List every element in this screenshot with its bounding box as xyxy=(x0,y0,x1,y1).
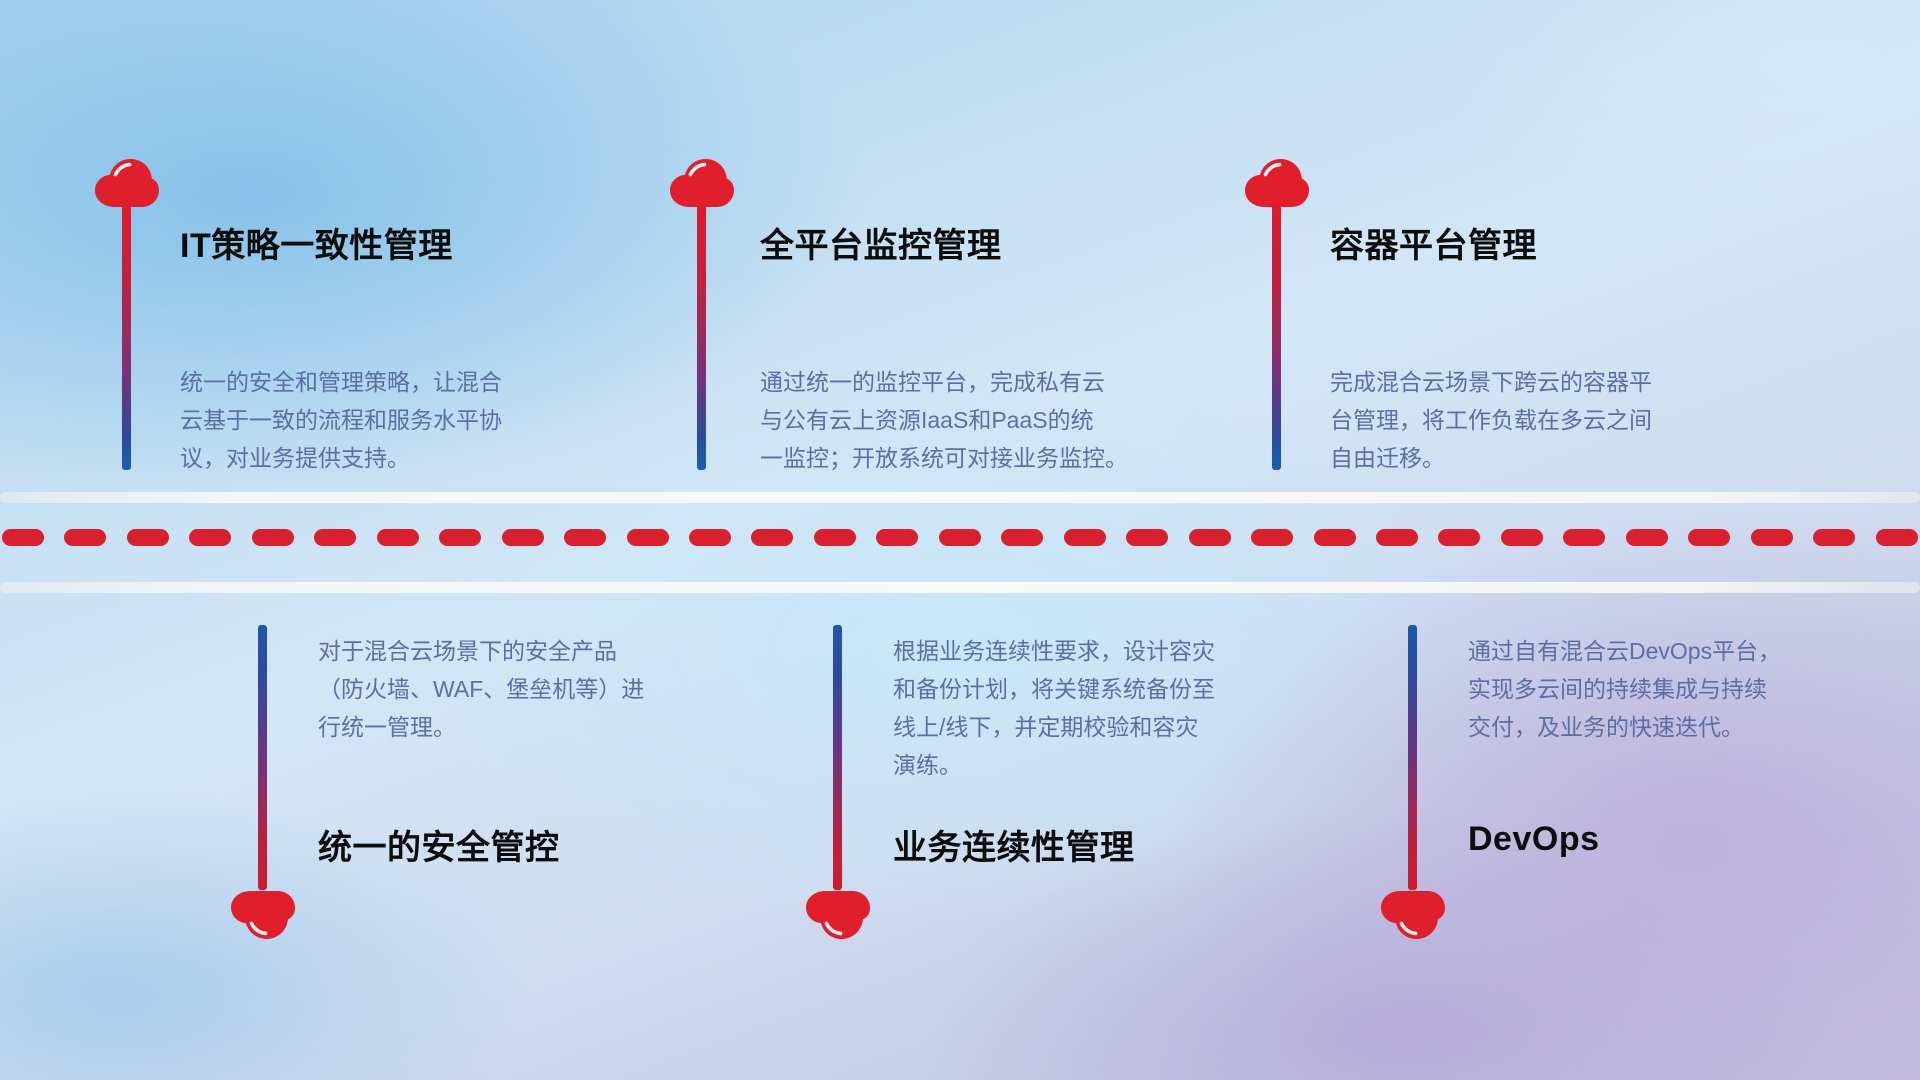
divider-dash xyxy=(2,529,44,546)
divider-dash xyxy=(1251,529,1293,546)
description-line: 交付，及业务的快速迭代。 xyxy=(1468,708,1781,746)
divider-dash xyxy=(1688,529,1730,546)
cloud-icon xyxy=(805,890,871,940)
divider-dash xyxy=(1189,529,1231,546)
pin-line xyxy=(1408,625,1417,890)
divider-dash xyxy=(627,529,669,546)
cloud-icon xyxy=(94,158,160,208)
marker-title: 统一的安全管控 xyxy=(318,820,560,869)
pin-line xyxy=(258,625,267,890)
marker-title: IT策略一致性管理 xyxy=(180,218,453,267)
description-line: 和备份计划，将关键系统备份至 xyxy=(893,670,1215,708)
description-line: （防火墙、WAF、堡垒机等）进 xyxy=(318,670,644,708)
marker-description: 通过统一的监控平台，完成私有云与公有云上资源IaaS和PaaS的统一监控；开放系… xyxy=(760,363,1128,477)
pin-line xyxy=(697,205,706,470)
divider-dash xyxy=(1064,529,1106,546)
description-line: 实现多云间的持续集成与持续 xyxy=(1468,670,1781,708)
divider-dash xyxy=(939,529,981,546)
pin-line xyxy=(833,625,842,890)
marker-title: 业务连续性管理 xyxy=(893,820,1135,869)
marker-title: DevOps xyxy=(1468,820,1600,859)
divider-dash xyxy=(502,529,544,546)
description-line: 行统一管理。 xyxy=(318,708,644,746)
description-line: 统一的安全和管理策略，让混合 xyxy=(180,363,502,401)
cloud-icon xyxy=(1380,890,1446,940)
description-line: 一监控；开放系统可对接业务监控。 xyxy=(760,439,1128,477)
divider-dash xyxy=(377,529,419,546)
divider-dash xyxy=(1563,529,1605,546)
description-line: 演练。 xyxy=(893,746,1215,784)
divider-dash xyxy=(1813,529,1855,546)
description-line: 台管理，将工作负载在多云之间 xyxy=(1330,401,1652,439)
divider-dash xyxy=(876,529,918,546)
divider xyxy=(0,482,1920,602)
marker-title: 容器平台管理 xyxy=(1330,218,1537,267)
marker-title: 全平台监控管理 xyxy=(760,218,1002,267)
divider-dash xyxy=(314,529,356,546)
description-line: 通过自有混合云DevOps平台， xyxy=(1468,632,1781,670)
cloud-icon xyxy=(1244,158,1310,208)
divider-dash xyxy=(1001,529,1043,546)
divider-dash xyxy=(814,529,856,546)
dashed-divider-line xyxy=(0,526,1920,548)
cloud-icon xyxy=(230,890,296,940)
description-line: 与公有云上资源IaaS和PaaS的统 xyxy=(760,401,1128,439)
marker-description: 对于混合云场景下的安全产品（防火墙、WAF、堡垒机等）进行统一管理。 xyxy=(318,632,644,746)
marker-description: 完成混合云场景下跨云的容器平台管理，将工作负载在多云之间自由迁移。 xyxy=(1330,363,1652,477)
divider-dash xyxy=(64,529,106,546)
divider-dash xyxy=(1501,529,1543,546)
divider-dash xyxy=(1126,529,1168,546)
description-line: 根据业务连续性要求，设计容灾 xyxy=(893,632,1215,670)
divider-dash xyxy=(1438,529,1480,546)
cloud-icon xyxy=(669,158,735,208)
description-line: 线上/线下，并定期校验和容灾 xyxy=(893,708,1215,746)
divider-dash xyxy=(439,529,481,546)
divider-dash xyxy=(1314,529,1356,546)
marker-description: 根据业务连续性要求，设计容灾和备份计划，将关键系统备份至线上/线下，并定期校验和… xyxy=(893,632,1215,784)
description-line: 云基于一致的流程和服务水平协 xyxy=(180,401,502,439)
divider-dash xyxy=(751,529,793,546)
divider-dash xyxy=(189,529,231,546)
divider-dash xyxy=(1626,529,1668,546)
pin-line xyxy=(1272,205,1281,470)
pin-line xyxy=(122,205,131,470)
description-line: 议，对业务提供支持。 xyxy=(180,439,502,477)
divider-dash xyxy=(252,529,294,546)
description-line: 自由迁移。 xyxy=(1330,439,1652,477)
marker-description: 通过自有混合云DevOps平台，实现多云间的持续集成与持续交付，及业务的快速迭代… xyxy=(1468,632,1781,746)
description-line: 对于混合云场景下的安全产品 xyxy=(318,632,644,670)
divider-dash xyxy=(564,529,606,546)
divider-band-bottom xyxy=(0,582,1920,593)
description-line: 完成混合云场景下跨云的容器平 xyxy=(1330,363,1652,401)
divider-dash xyxy=(127,529,169,546)
divider-dash xyxy=(1376,529,1418,546)
divider-dash xyxy=(1751,529,1793,546)
divider-dash xyxy=(1876,529,1918,546)
divider-dash xyxy=(689,529,731,546)
description-line: 通过统一的监控平台，完成私有云 xyxy=(760,363,1128,401)
divider-band-top xyxy=(0,492,1920,503)
marker-description: 统一的安全和管理策略，让混合云基于一致的流程和服务水平协议，对业务提供支持。 xyxy=(180,363,502,477)
